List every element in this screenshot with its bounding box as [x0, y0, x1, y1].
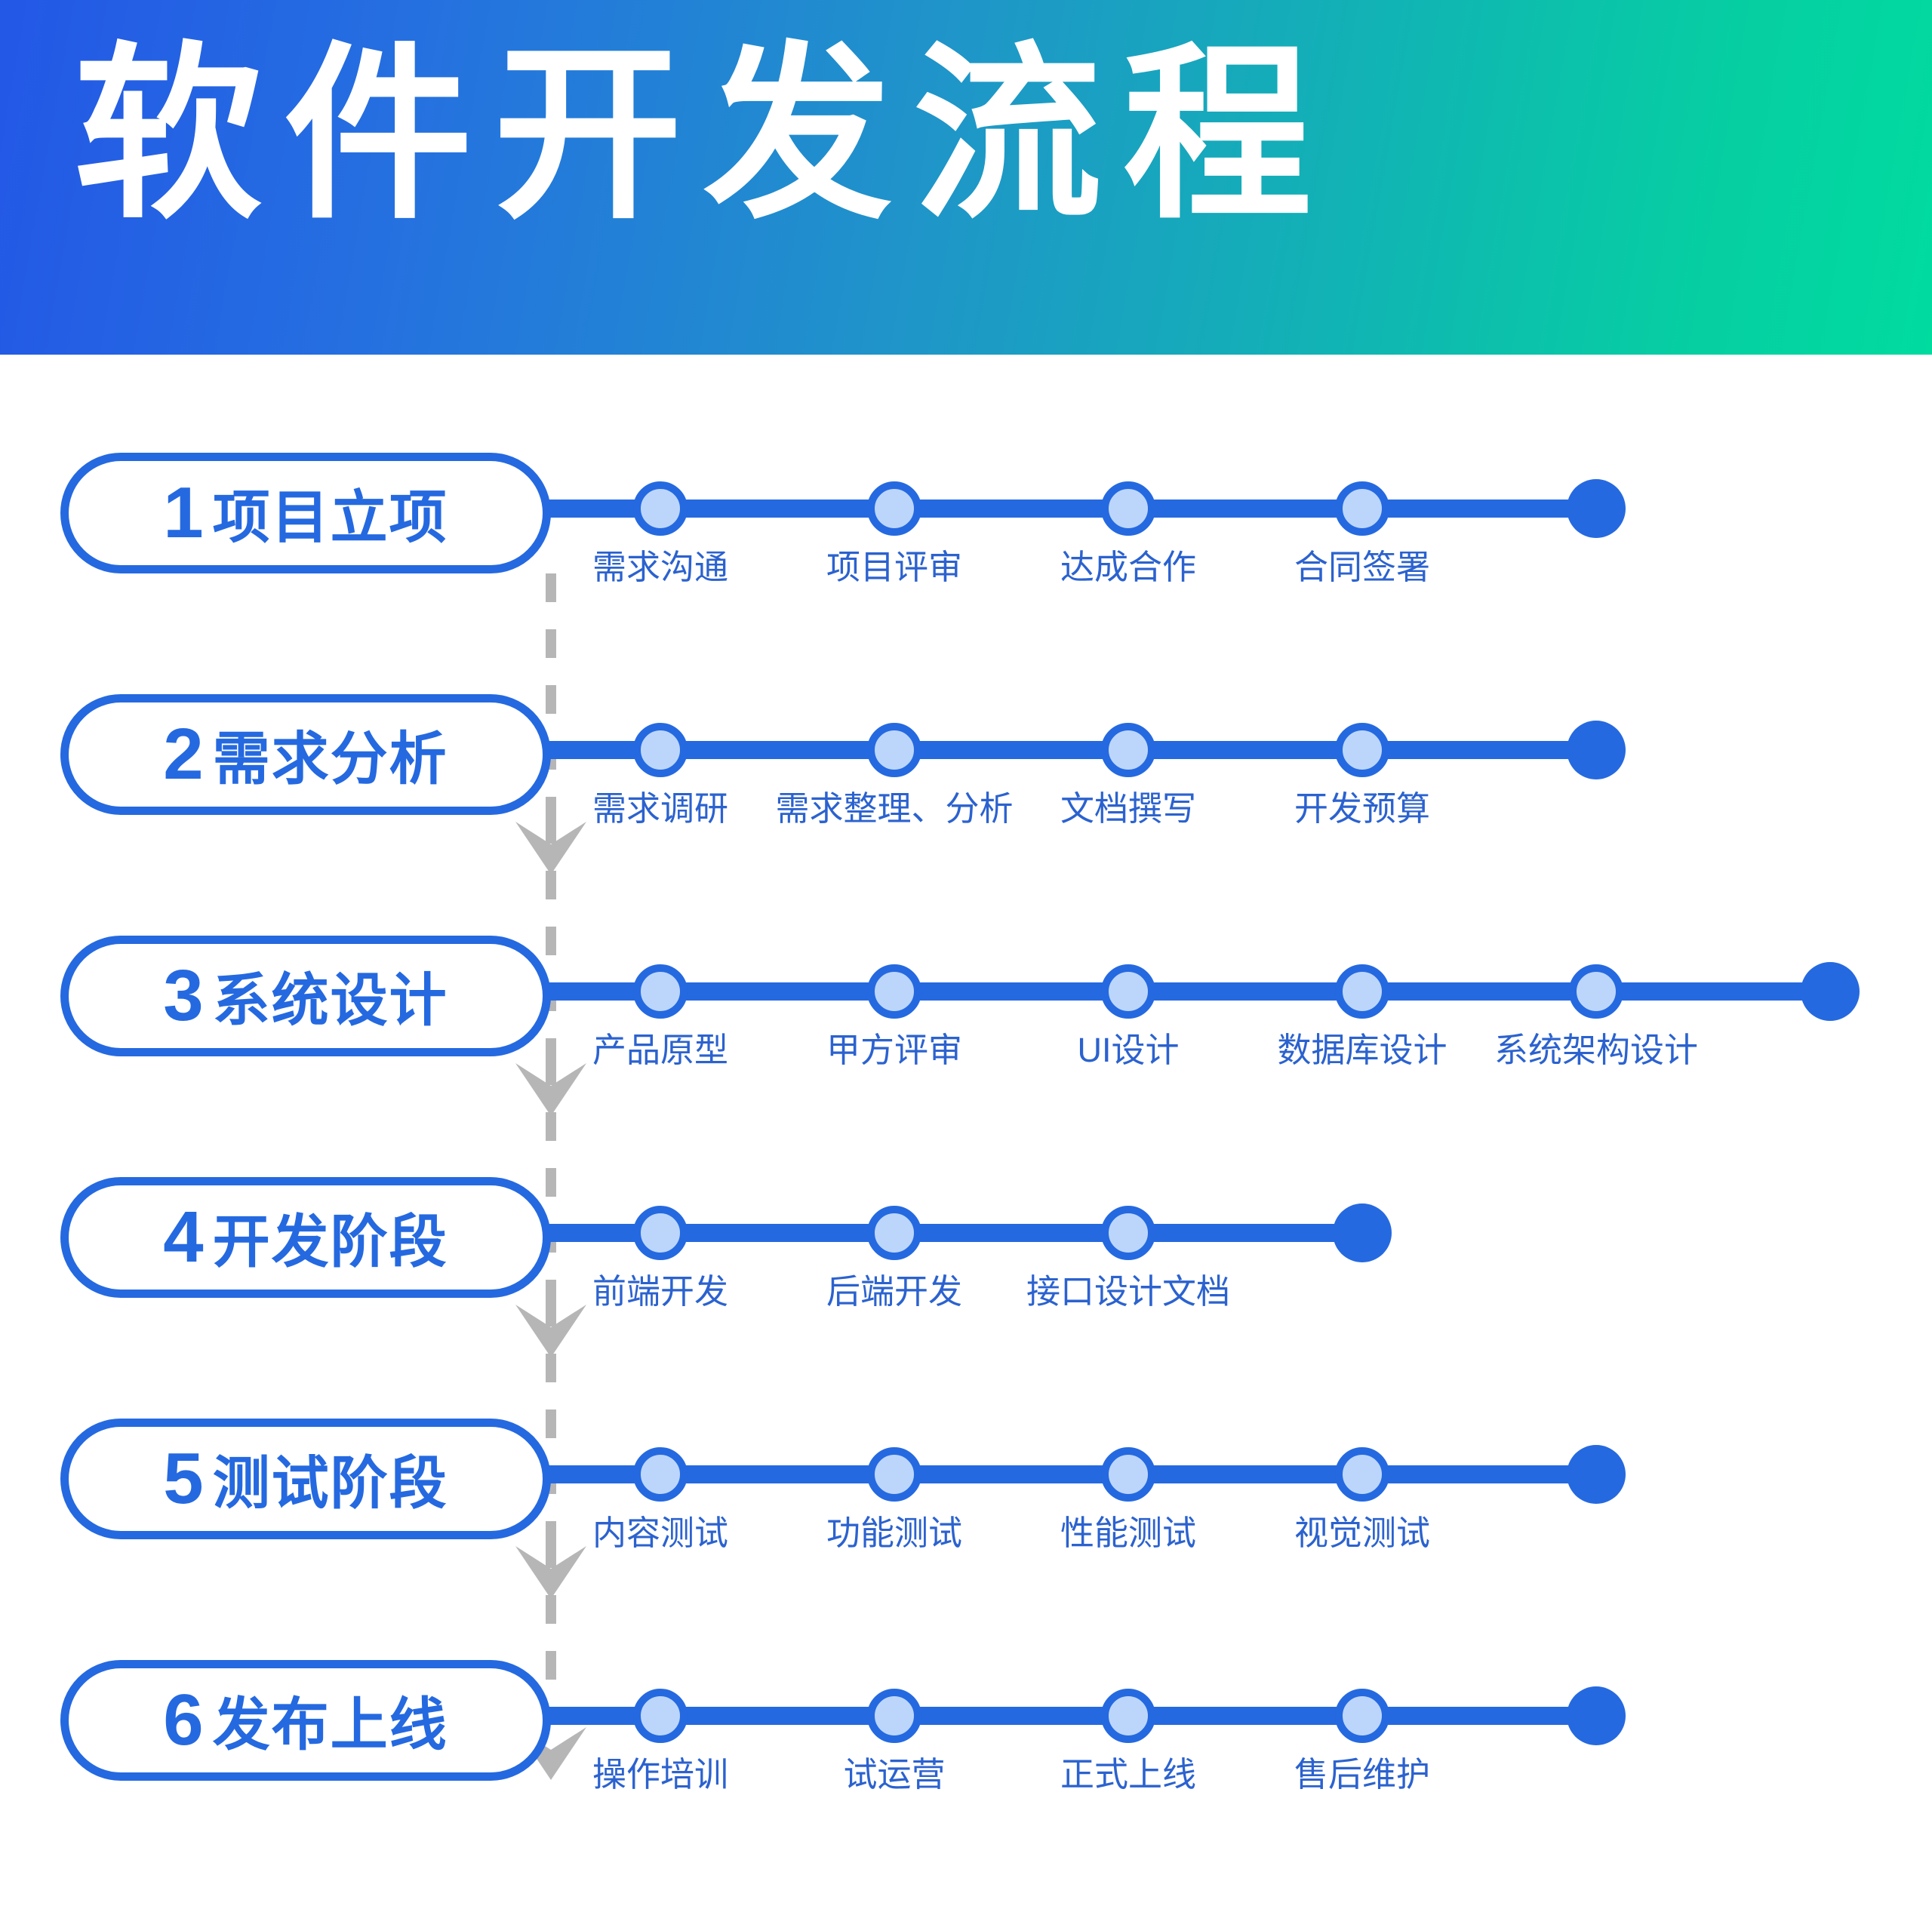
stage-name: 发布上线 [213, 1695, 448, 1756]
step-label: 系统架构设计 [1494, 1031, 1698, 1070]
stage-row: 4开发阶段前端开发后端开发接口设计文档 [0, 1177, 1932, 1373]
step-node[interactable] [1101, 1206, 1155, 1260]
step-node[interactable] [1569, 964, 1623, 1019]
step-label: 数据库设计 [1277, 1031, 1447, 1070]
stage-name: 开发阶段 [213, 1213, 448, 1273]
step-label: 文档撰写 [1060, 789, 1196, 828]
step-label: 合同签署 [1294, 548, 1430, 587]
step-label: 正式上线 [1060, 1755, 1196, 1794]
stage-row: 1项目立项需求沟通项目评审达成合作合同签署 [0, 453, 1932, 649]
step-label: 性能测试 [1060, 1514, 1196, 1553]
stage-badge-1[interactable]: 1项目立项 [60, 453, 551, 573]
step-label: 内容测试 [592, 1514, 728, 1553]
header-banner: 软件开发流程 [0, 0, 1932, 355]
step-node[interactable] [633, 1689, 688, 1743]
step-node[interactable] [1335, 481, 1389, 536]
step-node[interactable] [633, 964, 688, 1019]
stage-badge-3[interactable]: 3系统设计 [60, 936, 551, 1056]
step-node[interactable] [1101, 1447, 1155, 1502]
stage-end-node [1567, 1445, 1626, 1504]
step-node[interactable] [1335, 1447, 1389, 1502]
stage-timeline-track [542, 982, 1830, 1001]
stage-number: 4 [163, 1201, 203, 1274]
stage-badge-5[interactable]: 5测试阶段 [60, 1419, 551, 1539]
stage-row: 6发布上线操作培训试运营正式上线售后维护 [0, 1660, 1932, 1856]
infographic-canvas: 软件开发流程 1项目立项需求沟通项目评审达成合作合同签署2需求分析需求调研需求整… [0, 0, 1932, 1909]
stage-number: 1 [163, 477, 203, 549]
step-node[interactable] [1101, 723, 1155, 777]
stage-end-node [1567, 1686, 1626, 1745]
step-label: 功能测试 [826, 1514, 962, 1553]
stage-name: 系统设计 [213, 971, 448, 1031]
step-node[interactable] [633, 1206, 688, 1260]
step-label: 接口设计文档 [1026, 1272, 1230, 1311]
step-node[interactable] [867, 1689, 921, 1743]
step-label: 前端开发 [592, 1272, 728, 1311]
step-node[interactable] [1101, 964, 1155, 1019]
step-node[interactable] [1101, 1689, 1155, 1743]
step-node[interactable] [867, 481, 921, 536]
stage-badge-4[interactable]: 4开发阶段 [60, 1177, 551, 1298]
step-label: 试运营 [843, 1755, 945, 1794]
stage-number: 2 [163, 718, 203, 791]
step-label: 需求沟通 [592, 548, 728, 587]
stage-number: 5 [163, 1443, 203, 1515]
step-node[interactable] [1335, 1689, 1389, 1743]
stage-end-node [1333, 1203, 1392, 1262]
step-label: 需求整理、分析 [775, 789, 1013, 828]
stage-number: 6 [163, 1684, 203, 1757]
page-title: 软件开发流程 [74, 33, 1810, 237]
stage-badge-6[interactable]: 6发布上线 [60, 1660, 551, 1781]
step-node[interactable] [867, 1447, 921, 1502]
stage-row: 5测试阶段内容测试功能测试性能测试视觉测试 [0, 1419, 1932, 1615]
step-label: UI设计 [1077, 1031, 1179, 1070]
step-node[interactable] [633, 1447, 688, 1502]
step-node[interactable] [867, 1206, 921, 1260]
stage-timeline-track [542, 500, 1596, 518]
step-node[interactable] [1101, 481, 1155, 536]
step-node[interactable] [867, 723, 921, 777]
stage-end-node [1567, 721, 1626, 779]
step-label: 项目评审 [826, 548, 962, 587]
stage-row: 3系统设计产品原型甲方评审UI设计数据库设计系统架构设计 [0, 936, 1932, 1132]
step-label: 后端开发 [826, 1272, 962, 1311]
step-node[interactable] [1335, 964, 1389, 1019]
step-node[interactable] [867, 964, 921, 1019]
step-label: 达成合作 [1060, 548, 1196, 587]
stage-number: 3 [163, 960, 203, 1032]
stage-end-node [1567, 479, 1626, 538]
step-label: 售后维护 [1294, 1755, 1430, 1794]
stage-timeline-track [542, 1465, 1596, 1483]
step-label: 需求调研 [592, 789, 728, 828]
stage-name: 项目立项 [213, 488, 448, 549]
stage-end-node [1801, 962, 1860, 1021]
stage-timeline-track [542, 741, 1596, 759]
stage-row: 2需求分析需求调研需求整理、分析文档撰写开发预算 [0, 694, 1932, 890]
stage-name: 需求分析 [213, 730, 448, 790]
step-label: 开发预算 [1294, 789, 1430, 828]
stage-timeline-track [542, 1707, 1596, 1725]
step-label: 操作培训 [592, 1755, 728, 1794]
step-label: 视觉测试 [1294, 1514, 1430, 1553]
stage-badge-2[interactable]: 2需求分析 [60, 694, 551, 815]
step-node[interactable] [633, 723, 688, 777]
step-label: 甲方评审 [826, 1031, 962, 1070]
step-label: 产品原型 [592, 1031, 728, 1070]
step-node[interactable] [1335, 723, 1389, 777]
stage-name: 测试阶段 [213, 1454, 448, 1514]
step-node[interactable] [633, 481, 688, 536]
